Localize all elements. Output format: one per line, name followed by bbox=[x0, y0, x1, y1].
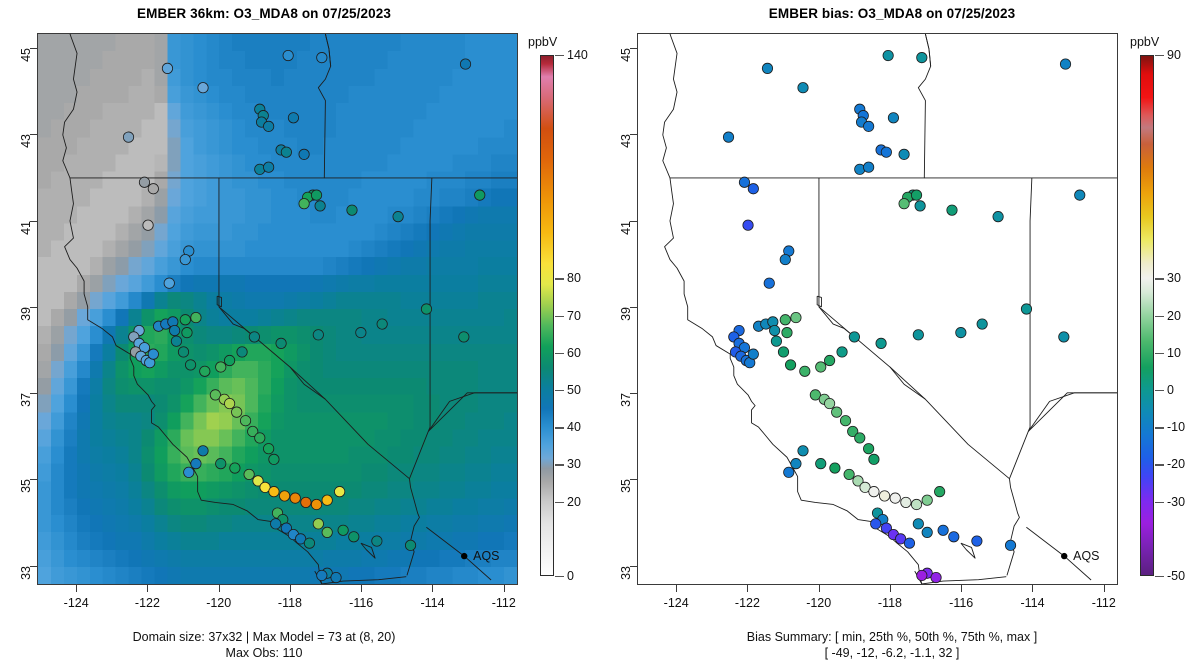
axis-tick-label: -116 bbox=[349, 596, 373, 610]
aqs-station-marker[interactable] bbox=[762, 63, 772, 73]
aqs-station-marker[interactable] bbox=[230, 463, 240, 473]
colorbar-tick-label: 0 bbox=[567, 569, 574, 583]
aqs-station-marker[interactable] bbox=[949, 532, 959, 542]
aqs-station-marker[interactable] bbox=[139, 177, 149, 187]
colorbar-gradient bbox=[1140, 55, 1154, 576]
aqs-station-marker[interactable] bbox=[890, 493, 900, 503]
axis-tick-label: -120 bbox=[206, 596, 231, 610]
aqs-legend: AQS bbox=[1026, 527, 1099, 580]
axis-tick-label: 33 bbox=[19, 566, 33, 580]
aqs-station-marker[interactable] bbox=[938, 525, 948, 535]
aqs-station-marker[interactable] bbox=[840, 416, 850, 426]
axis-tick bbox=[1104, 585, 1105, 592]
colorbar-tick bbox=[1155, 316, 1164, 317]
aqs-station-marker[interactable] bbox=[931, 572, 941, 582]
aqs-station-marker[interactable] bbox=[244, 469, 254, 479]
axis-tick bbox=[504, 585, 505, 592]
colorbar-tick bbox=[555, 576, 564, 577]
aqs-station-marker[interactable] bbox=[830, 463, 840, 473]
aqs-station-marker[interactable] bbox=[331, 572, 341, 582]
aqs-station-marker[interactable] bbox=[322, 527, 332, 537]
aqs-station-marker[interactable] bbox=[876, 338, 886, 348]
aqs-station-marker[interactable] bbox=[283, 50, 293, 60]
colorbar-tick-label: -10 bbox=[1167, 420, 1185, 434]
aqs-station-marker[interactable] bbox=[883, 50, 893, 60]
aqs-station-marker[interactable] bbox=[263, 444, 273, 454]
colorbar-tick-label: 140 bbox=[567, 48, 588, 62]
aqs-station-marker[interactable] bbox=[169, 325, 179, 335]
axis-tick bbox=[147, 585, 148, 592]
aqs-station-marker[interactable] bbox=[913, 519, 923, 529]
aqs-station-marker[interactable] bbox=[269, 486, 279, 496]
aqs-station-marker[interactable] bbox=[184, 467, 194, 477]
colorbar-tick bbox=[1155, 353, 1164, 354]
aqs-station-marker[interactable] bbox=[372, 536, 382, 546]
aqs-station-marker[interactable] bbox=[338, 525, 348, 535]
colorbar-tick bbox=[555, 502, 564, 503]
caption-line-2: [ -49, -12, -6.2, -1.1, 32 ] bbox=[628, 645, 1156, 661]
aqs-station-marker[interactable] bbox=[780, 254, 790, 264]
panel-bias: EMBER bias: O3_MDA8 on 07/25/2023 AQS -1… bbox=[600, 0, 1200, 672]
axis-tick bbox=[747, 585, 748, 592]
aqs-station-marker[interactable] bbox=[901, 497, 911, 507]
colorbar-tick-label: 70 bbox=[567, 309, 581, 323]
aqs-station-marker[interactable] bbox=[917, 52, 927, 62]
aqs-station-marker[interactable] bbox=[863, 444, 873, 454]
aqs-station-marker[interactable] bbox=[421, 304, 431, 314]
aqs-station-marker[interactable] bbox=[143, 220, 153, 230]
aqs-station-marker[interactable] bbox=[164, 278, 174, 288]
aqs-station-marker[interactable] bbox=[279, 491, 289, 501]
axis-tick-label: 45 bbox=[619, 48, 633, 62]
axis-tick-label: 37 bbox=[619, 393, 633, 407]
axis-tick-label: -124 bbox=[64, 596, 89, 610]
aqs-station-marker[interactable] bbox=[349, 532, 359, 542]
aqs-station-marker[interactable] bbox=[180, 315, 190, 325]
caption-model: Domain size: 37x32 | Max Model = 73 at (… bbox=[0, 629, 528, 661]
axis-tick-label: -124 bbox=[664, 596, 689, 610]
aqs-station-marker[interactable] bbox=[855, 433, 865, 443]
axis-tick bbox=[890, 585, 891, 592]
colorbar-tick bbox=[555, 390, 564, 391]
x-axis-bias: -124-122-120-118-116-114-112 bbox=[637, 585, 1118, 619]
axis-tick-label: 39 bbox=[619, 307, 633, 321]
aqs-station-marker[interactable] bbox=[171, 336, 181, 346]
aqs-station-marker[interactable] bbox=[459, 332, 469, 342]
aqs-station-marker[interactable] bbox=[869, 486, 879, 496]
aqs-station-marker[interactable] bbox=[182, 327, 192, 337]
aqs-station-marker[interactable] bbox=[304, 538, 314, 548]
aqs-station-marker[interactable] bbox=[739, 177, 749, 187]
aqs-station-marker[interactable] bbox=[1021, 304, 1031, 314]
colorbar-tick bbox=[555, 427, 564, 428]
station-markers[interactable] bbox=[123, 50, 485, 582]
aqs-station-marker[interactable] bbox=[263, 162, 273, 172]
page-title-bias: EMBER bias: O3_MDA8 on 07/25/2023 bbox=[628, 6, 1156, 21]
aqs-station-marker[interactable] bbox=[869, 454, 879, 464]
aqs-station-marker[interactable] bbox=[748, 349, 758, 359]
axis-tick-label: -122 bbox=[135, 596, 160, 610]
colorbar-tick-label: -50 bbox=[1167, 569, 1185, 583]
colorbar-model[interactable]: ppbV 140807060504030200 bbox=[528, 55, 608, 585]
aqs-station-marker[interactable] bbox=[791, 458, 801, 468]
colorbar-tick-label: 20 bbox=[1167, 309, 1181, 323]
aqs-station-marker[interactable] bbox=[1075, 190, 1085, 200]
aqs-station-marker[interactable] bbox=[972, 536, 982, 546]
aqs-station-marker[interactable] bbox=[148, 349, 158, 359]
aqs-station-marker[interactable] bbox=[934, 486, 944, 496]
aqs-station-marker[interactable] bbox=[780, 315, 790, 325]
aqs-station-marker[interactable] bbox=[356, 327, 366, 337]
aqs-station-marker[interactable] bbox=[904, 538, 914, 548]
aqs-station-marker[interactable] bbox=[899, 149, 909, 159]
aqs-station-marker[interactable] bbox=[784, 467, 794, 477]
aqs-station-marker[interactable] bbox=[317, 52, 327, 62]
panel-model: EMBER 36km: O3_MDA8 on 07/25/2023 AQS -1… bbox=[0, 0, 600, 672]
aqs-station-marker[interactable] bbox=[977, 319, 987, 329]
colorbar-tick-label: 0 bbox=[1167, 383, 1174, 397]
aqs-station-marker[interactable] bbox=[771, 336, 781, 346]
axis-tick-label: -112 bbox=[1092, 596, 1116, 610]
aqs-station-marker[interactable] bbox=[216, 458, 226, 468]
aqs-station-marker[interactable] bbox=[224, 398, 234, 408]
aqs-station-marker[interactable] bbox=[299, 199, 309, 209]
aqs-station-marker[interactable] bbox=[769, 325, 779, 335]
bias-overlay: AQS bbox=[638, 34, 1117, 584]
aqs-station-marker[interactable] bbox=[743, 220, 753, 230]
colorbar-tick bbox=[1155, 502, 1164, 503]
axis-tick bbox=[76, 585, 77, 592]
aqs-legend-dot bbox=[461, 553, 467, 559]
aqs-station-marker[interactable] bbox=[178, 347, 188, 357]
figure-root: EMBER 36km: O3_MDA8 on 07/25/2023 AQS -1… bbox=[0, 0, 1200, 672]
aqs-station-marker[interactable] bbox=[377, 319, 387, 329]
aqs-station-marker[interactable] bbox=[290, 493, 300, 503]
axis-tick-label: -114 bbox=[420, 596, 444, 610]
aqs-station-marker[interactable] bbox=[191, 458, 201, 468]
axis-tick bbox=[819, 585, 820, 592]
colorbar-tick-label: 50 bbox=[567, 383, 581, 397]
aqs-station-marker[interactable] bbox=[824, 398, 834, 408]
x-axis-model: -124-122-120-118-116-114-112 bbox=[37, 585, 518, 619]
aqs-station-marker[interactable] bbox=[922, 495, 932, 505]
aqs-station-marker[interactable] bbox=[791, 312, 801, 322]
aqs-station-marker[interactable] bbox=[313, 330, 323, 340]
aqs-station-marker[interactable] bbox=[917, 570, 927, 580]
aqs-station-marker[interactable] bbox=[863, 121, 873, 131]
aqs-station-marker[interactable] bbox=[405, 540, 415, 550]
colorbar-gradient bbox=[540, 55, 554, 576]
aqs-station-marker[interactable] bbox=[881, 147, 891, 157]
aqs-station-marker[interactable] bbox=[816, 362, 826, 372]
colorbar-tick-label: 30 bbox=[1167, 271, 1181, 285]
aqs-station-marker[interactable] bbox=[1059, 332, 1069, 342]
caption-bias: Bias Summary: [ min, 25th %, 50th %, 75t… bbox=[628, 629, 1156, 661]
aqs-station-marker[interactable] bbox=[255, 433, 265, 443]
axis-tick-label: 43 bbox=[619, 134, 633, 148]
aqs-station-marker[interactable] bbox=[460, 59, 470, 69]
caption-line-1: Domain size: 37x32 | Max Model = 73 at (… bbox=[0, 629, 528, 645]
aqs-station-marker[interactable] bbox=[185, 360, 195, 370]
plot-area-bias[interactable]: AQS bbox=[637, 33, 1118, 585]
caption-line-1: Bias Summary: [ min, 25th %, 50th %, 75t… bbox=[628, 629, 1156, 645]
aqs-station-marker[interactable] bbox=[899, 199, 909, 209]
colorbar-tick bbox=[1155, 278, 1164, 279]
aqs-station-marker[interactable] bbox=[911, 499, 921, 509]
aqs-station-marker[interactable] bbox=[311, 499, 321, 509]
aqs-station-marker[interactable] bbox=[800, 366, 810, 376]
aqs-station-marker[interactable] bbox=[311, 190, 321, 200]
axis-tick bbox=[1032, 585, 1033, 592]
aqs-station-marker[interactable] bbox=[271, 519, 281, 529]
axis-tick bbox=[961, 585, 962, 592]
axis-tick-label: 37 bbox=[19, 393, 33, 407]
aqs-station-marker[interactable] bbox=[123, 132, 133, 142]
aqs-station-marker[interactable] bbox=[231, 407, 241, 417]
aqs-station-marker[interactable] bbox=[347, 205, 357, 215]
colorbar-tick-label: 20 bbox=[567, 495, 581, 509]
aqs-station-marker[interactable] bbox=[798, 446, 808, 456]
aqs-station-marker[interactable] bbox=[844, 469, 854, 479]
colorbar-bias[interactable]: ppbV 903020100-10-20-30-50 bbox=[1128, 55, 1200, 585]
axis-tick bbox=[432, 585, 433, 592]
colorbar-unit-label: ppbV bbox=[1130, 35, 1159, 49]
aqs-station-marker[interactable] bbox=[849, 332, 859, 342]
aqs-station-marker[interactable] bbox=[837, 347, 847, 357]
axis-tick-label: 45 bbox=[19, 48, 33, 62]
aqs-station-marker[interactable] bbox=[288, 113, 298, 123]
axis-tick-label: -112 bbox=[492, 596, 516, 610]
colorbar-tick-label: -30 bbox=[1167, 495, 1185, 509]
station-markers[interactable] bbox=[723, 50, 1085, 582]
y-axis-bias: 45434139373533 bbox=[600, 33, 637, 585]
aqs-station-marker[interactable] bbox=[322, 495, 332, 505]
colorbar-tick bbox=[1155, 576, 1164, 577]
aqs-station-marker[interactable] bbox=[1060, 59, 1070, 69]
aqs-legend-label: AQS bbox=[1073, 549, 1099, 563]
aqs-station-marker[interactable] bbox=[249, 332, 259, 342]
colorbar-tick-label: 60 bbox=[567, 346, 581, 360]
axis-tick-label: 33 bbox=[619, 566, 633, 580]
axis-tick bbox=[361, 585, 362, 592]
aqs-station-marker[interactable] bbox=[299, 149, 309, 159]
aqs-station-marker[interactable] bbox=[778, 347, 788, 357]
aqs-station-marker[interactable] bbox=[317, 570, 327, 580]
colorbar-tick-label: 30 bbox=[567, 457, 581, 471]
axis-tick-label: -122 bbox=[735, 596, 760, 610]
aqs-station-marker[interactable] bbox=[301, 497, 311, 507]
colorbar-tick bbox=[1155, 464, 1164, 465]
aqs-station-marker[interactable] bbox=[180, 254, 190, 264]
axis-tick-label: -118 bbox=[278, 596, 302, 610]
aqs-station-marker[interactable] bbox=[237, 347, 247, 357]
axis-tick bbox=[290, 585, 291, 592]
model-overlay: AQS bbox=[38, 34, 517, 584]
y-axis-model: 45434139373533 bbox=[0, 33, 37, 585]
aqs-station-marker[interactable] bbox=[798, 83, 808, 93]
axis-tick-label: 35 bbox=[619, 479, 633, 493]
aqs-station-marker[interactable] bbox=[816, 458, 826, 468]
colorbar-tick bbox=[1155, 427, 1164, 428]
aqs-station-marker[interactable] bbox=[831, 407, 841, 417]
aqs-station-marker[interactable] bbox=[764, 278, 774, 288]
aqs-station-marker[interactable] bbox=[162, 63, 172, 73]
aqs-station-marker[interactable] bbox=[198, 446, 208, 456]
colorbar-tick-label: 80 bbox=[567, 271, 581, 285]
aqs-station-marker[interactable] bbox=[922, 527, 932, 537]
aqs-station-marker[interactable] bbox=[224, 355, 234, 365]
aqs-station-marker[interactable] bbox=[915, 201, 925, 211]
aqs-station-marker[interactable] bbox=[723, 132, 733, 142]
aqs-station-marker[interactable] bbox=[334, 486, 344, 496]
aqs-station-marker[interactable] bbox=[240, 416, 250, 426]
axis-tick-label: -114 bbox=[1020, 596, 1044, 610]
aqs-station-marker[interactable] bbox=[993, 211, 1003, 221]
axis-tick bbox=[676, 585, 677, 592]
colorbar-tick bbox=[555, 278, 564, 279]
aqs-station-marker[interactable] bbox=[200, 366, 210, 376]
aqs-station-marker[interactable] bbox=[947, 205, 957, 215]
axis-tick-label: 41 bbox=[19, 221, 33, 235]
aqs-station-marker[interactable] bbox=[263, 121, 273, 131]
aqs-station-marker[interactable] bbox=[475, 190, 485, 200]
aqs-station-marker[interactable] bbox=[393, 211, 403, 221]
colorbar-tick-label: 10 bbox=[1167, 346, 1181, 360]
aqs-station-marker[interactable] bbox=[1005, 540, 1015, 550]
colorbar-tick bbox=[1155, 390, 1164, 391]
aqs-station-marker[interactable] bbox=[911, 190, 921, 200]
aqs-station-marker[interactable] bbox=[913, 330, 923, 340]
axis-tick-label: -120 bbox=[806, 596, 831, 610]
plot-area-model[interactable]: AQS bbox=[37, 33, 518, 585]
axis-tick-label: 41 bbox=[619, 221, 633, 235]
caption-line-2: Max Obs: 110 bbox=[0, 645, 528, 661]
aqs-legend: AQS bbox=[426, 527, 499, 580]
aqs-station-marker[interactable] bbox=[956, 327, 966, 337]
axis-tick bbox=[219, 585, 220, 592]
colorbar-unit-label: ppbV bbox=[528, 35, 557, 49]
aqs-legend-dot bbox=[1061, 553, 1067, 559]
colorbar-tick-label: -20 bbox=[1167, 457, 1185, 471]
aqs-station-marker[interactable] bbox=[276, 338, 286, 348]
aqs-station-marker[interactable] bbox=[216, 362, 226, 372]
aqs-station-marker[interactable] bbox=[269, 454, 279, 464]
colorbar-tick-label: 40 bbox=[567, 420, 581, 434]
axis-tick-label: -118 bbox=[878, 596, 902, 610]
colorbar-tick bbox=[555, 55, 564, 56]
colorbar-tick bbox=[1155, 55, 1164, 56]
page-title-model: EMBER 36km: O3_MDA8 on 07/25/2023 bbox=[0, 6, 528, 21]
colorbar-tick bbox=[555, 316, 564, 317]
axis-tick-label: 39 bbox=[19, 307, 33, 321]
aqs-station-marker[interactable] bbox=[191, 312, 201, 322]
colorbar-tick-label: 90 bbox=[1167, 48, 1181, 62]
aqs-station-marker[interactable] bbox=[281, 147, 291, 157]
aqs-station-marker[interactable] bbox=[879, 491, 889, 501]
axis-tick-label: 43 bbox=[19, 134, 33, 148]
aqs-station-marker[interactable] bbox=[315, 201, 325, 211]
axis-tick-label: -116 bbox=[949, 596, 973, 610]
aqs-station-marker[interactable] bbox=[313, 519, 323, 529]
aqs-station-marker[interactable] bbox=[871, 519, 881, 529]
aqs-station-marker[interactable] bbox=[198, 83, 208, 93]
aqs-legend-label: AQS bbox=[473, 549, 499, 563]
colorbar-tick bbox=[555, 464, 564, 465]
aqs-station-marker[interactable] bbox=[824, 355, 834, 365]
aqs-station-marker[interactable] bbox=[785, 360, 795, 370]
aqs-station-marker[interactable] bbox=[148, 184, 158, 194]
axis-tick-label: 35 bbox=[19, 479, 33, 493]
aqs-station-marker[interactable] bbox=[888, 113, 898, 123]
aqs-station-marker[interactable] bbox=[782, 327, 792, 337]
colorbar-tick bbox=[555, 353, 564, 354]
aqs-station-marker[interactable] bbox=[863, 162, 873, 172]
aqs-station-marker[interactable] bbox=[748, 184, 758, 194]
